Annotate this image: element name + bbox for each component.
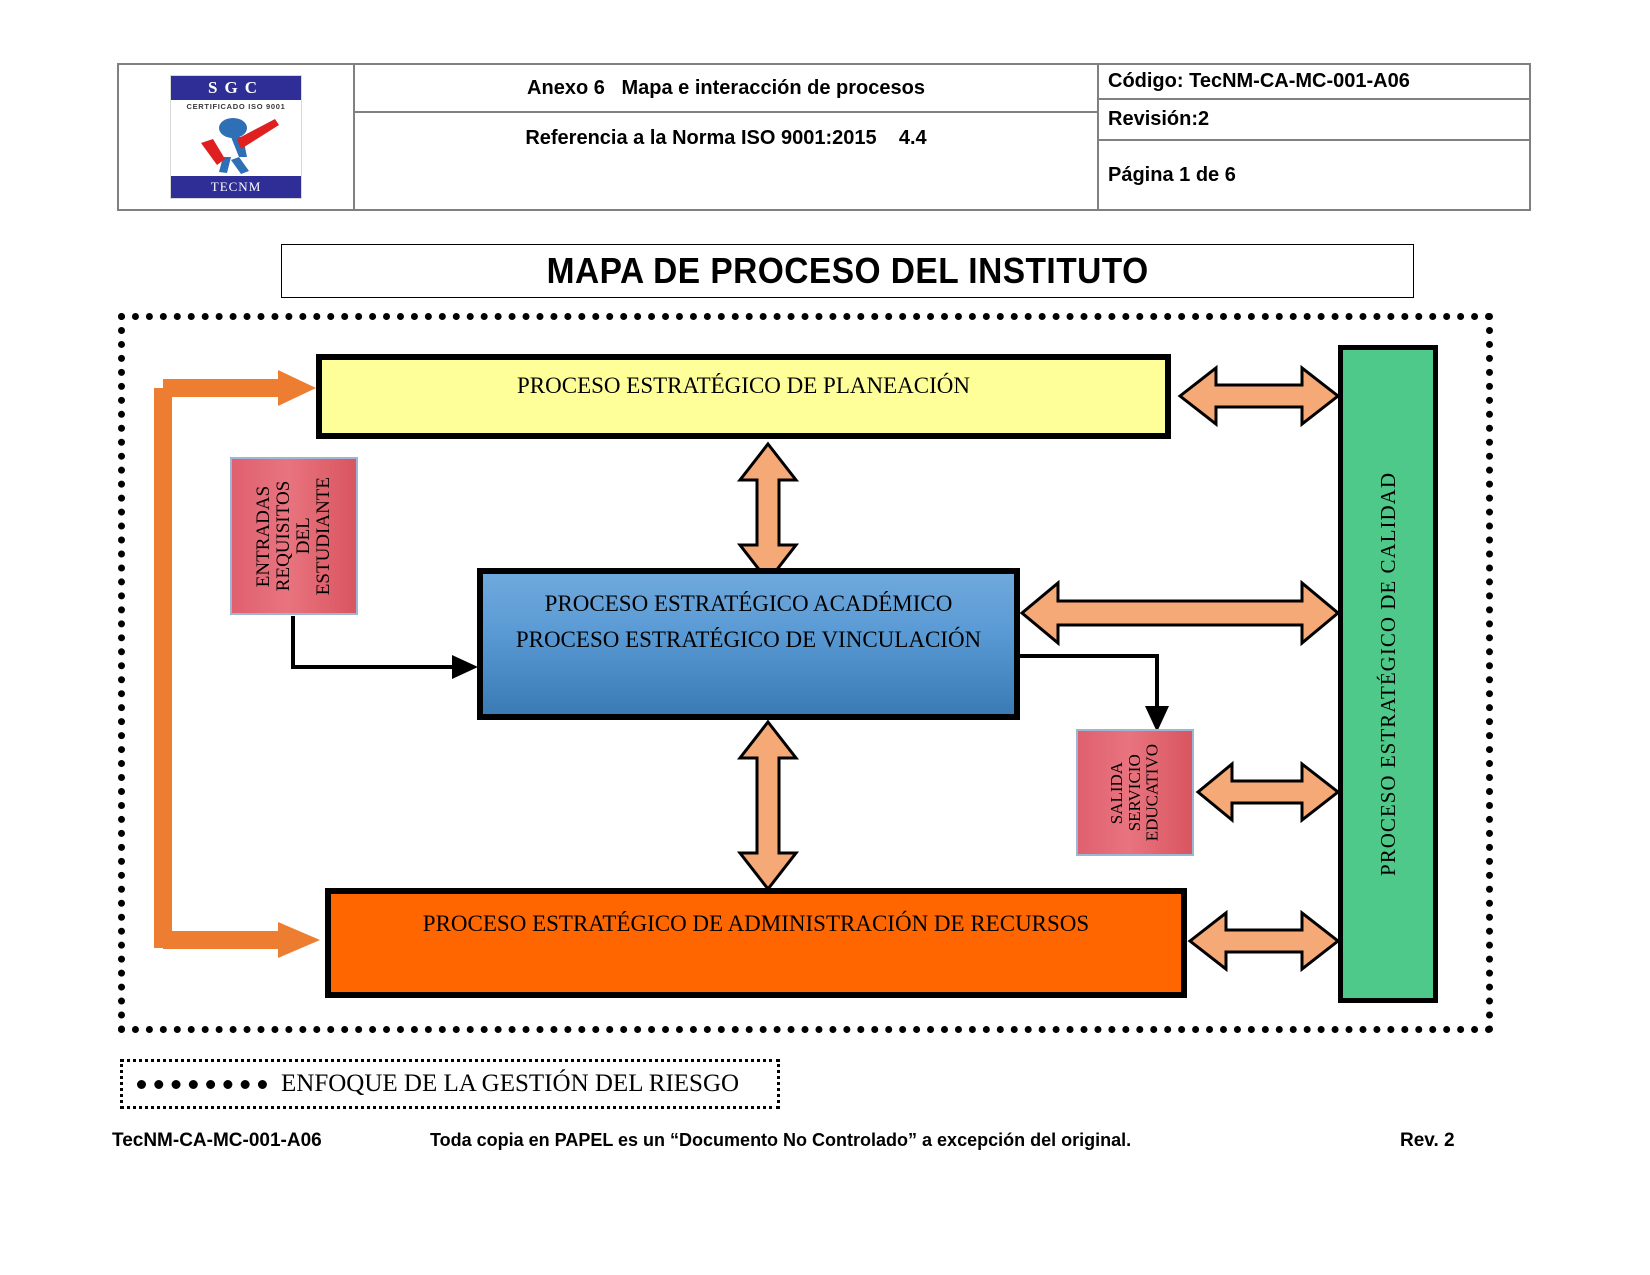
header-pagina-label: Página 1 de 6: [1108, 164, 1236, 187]
header-norm-label: Referencia a la Norma ISO 9001:2015 4.4: [525, 127, 926, 150]
footer-revision: Rev. 2: [1400, 1130, 1455, 1152]
logo-figure-icon: [171, 113, 301, 176]
document-page: SGC CERTIFICADO ISO 9001 TECNM Anexo 6 M…: [0, 0, 1650, 1275]
process-box-administracion[interactable]: PROCESO ESTRATÉGICO DE ADMINISTRACIÓN DE…: [325, 888, 1187, 998]
process-label-vinculacion: PROCESO ESTRATÉGICO DE VINCULACIÓN: [516, 622, 981, 658]
process-label-calidad: PROCESO ESTRATÉGICO DE CALIDAD: [1376, 472, 1401, 876]
sgc-tecnm-logo: SGC CERTIFICADO ISO 9001 TECNM: [170, 75, 302, 199]
footer-notice: Toda copia en PAPEL es un “Documento No …: [430, 1130, 1131, 1151]
input-box-entradas[interactable]: ENTRADAS REQUISITOS DEL ESTUDIANTE: [230, 457, 358, 615]
legend-box: ENFOQUE DE LA GESTIÓN DEL RIESGO: [120, 1059, 780, 1109]
output-box-salida[interactable]: SALIDA SERVICIO EDUCATIVO: [1076, 729, 1194, 856]
input-label-entradas: ENTRADAS REQUISITOS DEL ESTUDIANTE: [254, 477, 334, 595]
header-logo-cell: SGC CERTIFICADO ISO 9001 TECNM: [119, 65, 355, 209]
header-middle-cell: Anexo 6 Mapa e interacción de procesos R…: [355, 65, 1099, 209]
logo-sgc-text: SGC: [171, 76, 301, 100]
document-footer: TecNM-CA-MC-001-A06 Toda copia en PAPEL …: [0, 1120, 1650, 1180]
process-box-calidad[interactable]: PROCESO ESTRATÉGICO DE CALIDAD: [1338, 345, 1438, 1003]
header-revision-label: Revisión:2: [1108, 108, 1209, 131]
logo-iso-text: CERTIFICADO ISO 9001: [171, 100, 301, 113]
header-codigo-label: Código: TecNM-CA-MC-001-A06: [1108, 70, 1410, 93]
legend-label: ENFOQUE DE LA GESTIÓN DEL RIESGO: [281, 1070, 739, 1098]
process-box-planeacion[interactable]: PROCESO ESTRATÉGICO DE PLANEACIÓN: [316, 354, 1171, 439]
page-title-box: MAPA DE PROCESO DEL INSTITUTO: [281, 244, 1414, 298]
page-title: MAPA DE PROCESO DEL INSTITUTO: [547, 250, 1149, 292]
output-label-salida: SALIDA SERVICIO EDUCATIVO: [1108, 744, 1162, 841]
document-header-table: SGC CERTIFICADO ISO 9001 TECNM Anexo 6 M…: [117, 63, 1531, 211]
process-label-planeacion: PROCESO ESTRATÉGICO DE PLANEACIÓN: [517, 373, 970, 399]
legend-dashed-sample-icon: [137, 1080, 267, 1089]
process-box-academico-vinculacion[interactable]: PROCESO ESTRATÉGICO ACADÉMICO PROCESO ES…: [477, 568, 1020, 720]
header-right-cell: Código: TecNM-CA-MC-001-A06 Revisión:2 P…: [1099, 65, 1529, 209]
process-label-administracion: PROCESO ESTRATÉGICO DE ADMINISTRACIÓN DE…: [423, 911, 1089, 937]
footer-code: TecNM-CA-MC-001-A06: [112, 1130, 322, 1152]
process-label-academico: PROCESO ESTRATÉGICO ACADÉMICO: [545, 586, 953, 622]
header-annex-label: Anexo 6 Mapa e interacción de procesos: [527, 77, 925, 100]
logo-tecnm-text: TECNM: [171, 176, 301, 198]
